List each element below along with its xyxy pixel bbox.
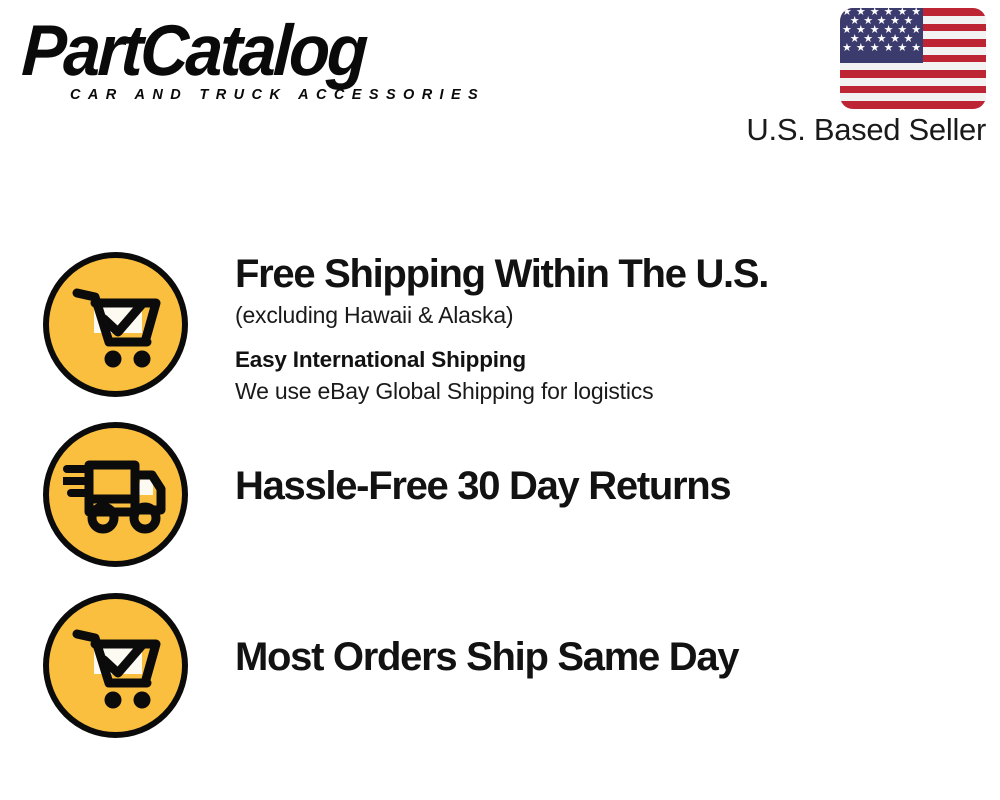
flag-canton: ★★★★★★ ★★★★★ ★★★★★★ ★★★★★ ★★★★★★	[840, 8, 923, 63]
us-based-seller-label: U.S. Based Seller	[716, 112, 986, 148]
feature-secondary-title: Easy International Shipping	[235, 345, 983, 374]
feature-subtitle: (excluding Hawaii & Alaska)	[235, 300, 983, 331]
feature-text-block: Hassle-Free 30 Day Returns	[188, 422, 983, 509]
feature-title: Free Shipping Within The U.S.	[235, 252, 983, 297]
feature-title: Hassle-Free 30 Day Returns	[235, 464, 983, 509]
seller-info-banner: PartCatalog CAR AND TRUCK ACCESSORIES ★★…	[0, 0, 1000, 800]
banner-header: PartCatalog CAR AND TRUCK ACCESSORIES ★★…	[0, 0, 1000, 175]
cart-check-icon	[43, 593, 188, 738]
brand-logo: PartCatalog CAR AND TRUCK ACCESSORIES	[22, 18, 492, 103]
feature-text-block: Most Orders Ship Same Day	[188, 593, 983, 680]
feature-row: Hassle-Free 30 Day Returns	[43, 422, 983, 567]
us-flag-icon: ★★★★★★ ★★★★★ ★★★★★★ ★★★★★ ★★★★★★	[840, 8, 986, 109]
feature-secondary-subtitle: We use eBay Global Shipping for logistic…	[235, 376, 983, 407]
feature-row: Free Shipping Within The U.S. (excluding…	[43, 252, 983, 407]
feature-title: Most Orders Ship Same Day	[235, 635, 983, 680]
brand-wordmark: PartCatalog	[20, 18, 460, 86]
us-based-seller-badge: ★★★★★★ ★★★★★ ★★★★★★ ★★★★★ ★★★★★★ U.S. Ba…	[716, 8, 986, 148]
feature-text-block: Free Shipping Within The U.S. (excluding…	[188, 252, 983, 407]
cart-check-icon	[43, 252, 188, 397]
feature-row: Most Orders Ship Same Day	[43, 593, 983, 738]
delivery-truck-icon	[43, 422, 188, 567]
